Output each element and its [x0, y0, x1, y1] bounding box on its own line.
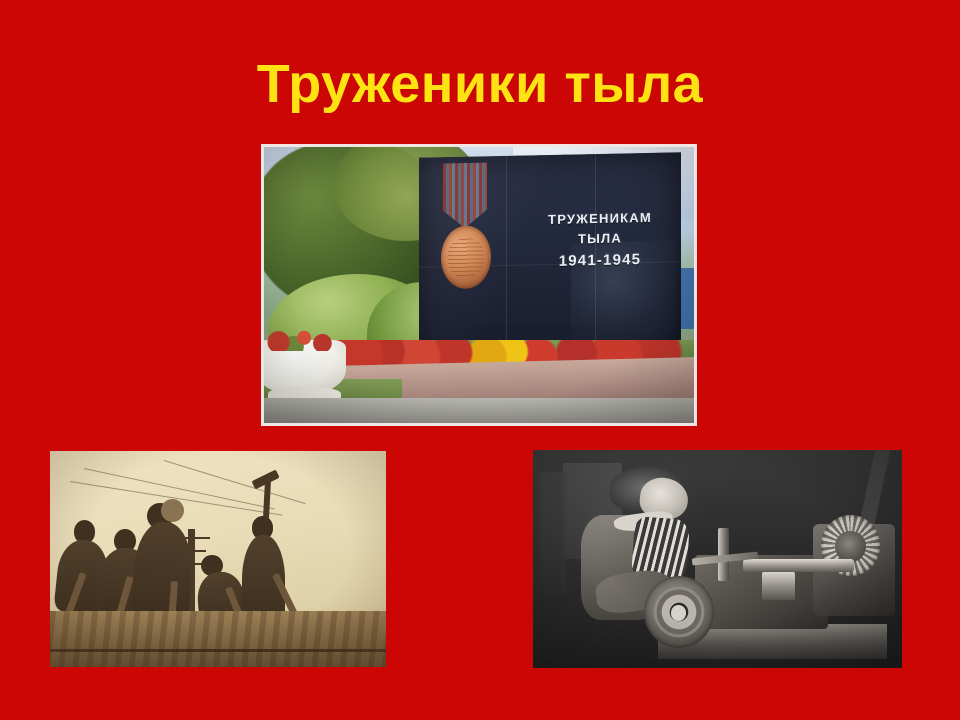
- inscription-line-dedication: ТРУЖЕНИКАМ ТЫЛА: [524, 207, 676, 250]
- monument-inscription: ТРУЖЕНИКАМ ТЫЛА 1941-1945: [524, 207, 676, 274]
- lathe-chuck: [762, 572, 795, 600]
- lathe-handwheel: [644, 576, 714, 648]
- inscription-line-years: 1941-1945: [524, 247, 676, 273]
- granite-seam-left: [505, 156, 506, 366]
- workshop-wall-panel: [540, 472, 566, 598]
- monument-photo: ТРУЖЕНИКАМ ТЫЛА 1941-1945: [261, 144, 697, 426]
- rail-line: [50, 649, 386, 652]
- trench-diggers-photo: [50, 451, 386, 667]
- monument-urn-flowers: [264, 329, 337, 351]
- monument-blue-railing: [681, 268, 694, 329]
- monument-granite-stele: ТРУЖЕНИКАМ ТЫЛА 1941-1945: [419, 153, 681, 368]
- medal-ribbon-icon: [442, 163, 487, 229]
- page-title: Труженики тыла: [0, 56, 960, 113]
- dug-earth-ground: [50, 611, 386, 667]
- monument-pavement: [264, 398, 694, 423]
- medal-disc-icon: [441, 226, 491, 290]
- presentation-slide: Труженики тыла ТРУЖЕНИКАМ ТЫЛА 1941-1945: [0, 0, 960, 720]
- lathe-spindle: [743, 559, 854, 572]
- lathe-worker-photo: [533, 450, 902, 668]
